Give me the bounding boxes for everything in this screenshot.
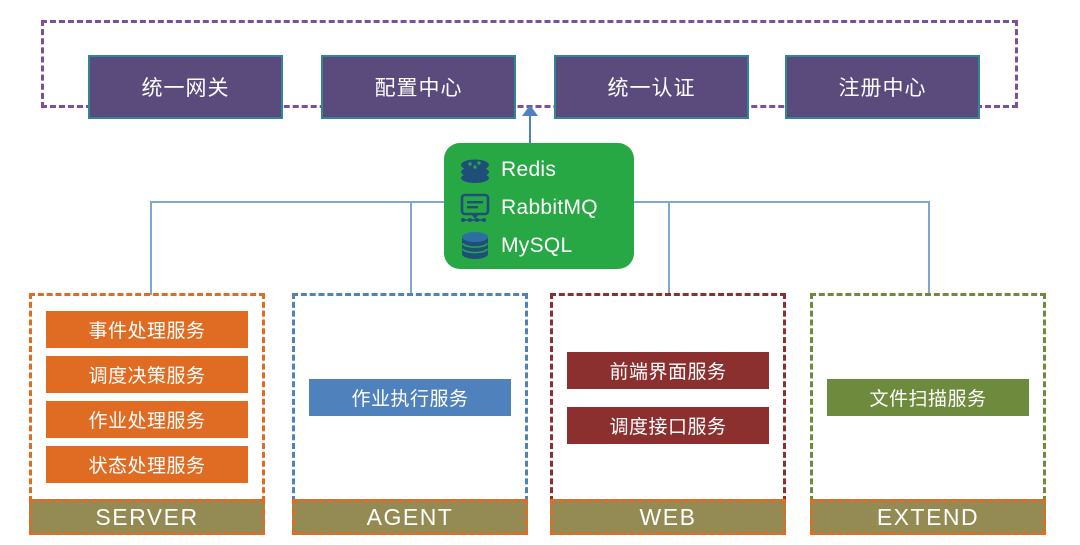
- gateway-box-registry-center[interactable]: 注册中心: [785, 55, 980, 119]
- section-footer-label: WEB: [640, 504, 697, 531]
- gateway-box-config-center[interactable]: 配置中心: [321, 55, 516, 119]
- section-agent: 作业执行服务 AGENT: [292, 293, 528, 535]
- middleware-card[interactable]: Redis RabbitMQ: [444, 143, 634, 269]
- connector-drop-agent: [410, 201, 412, 295]
- gateway-box-label: 统一认证: [608, 72, 696, 102]
- section-footer-server: SERVER: [29, 499, 265, 535]
- redis-layers-icon: [458, 155, 492, 185]
- service-label: 前端界面服务: [609, 357, 726, 384]
- service-label: 文件扫描服务: [869, 384, 986, 411]
- service-box-frontend-ui[interactable]: 前端界面服务: [567, 352, 769, 389]
- gateway-box-label: 注册中心: [839, 72, 927, 102]
- section-extend: 文件扫描服务 EXTEND: [810, 293, 1046, 535]
- middleware-row-redis[interactable]: Redis: [458, 151, 634, 189]
- section-footer-extend: EXTEND: [810, 499, 1046, 535]
- service-box-scheduling-decision[interactable]: 调度决策服务: [46, 356, 248, 393]
- middleware-label: MySQL: [501, 234, 573, 258]
- service-label: 调度决策服务: [88, 361, 205, 388]
- section-footer-label: SERVER: [95, 504, 198, 531]
- middleware-to-platform-arrow-head: [522, 105, 538, 116]
- gateway-box-unified-gateway[interactable]: 统一网关: [88, 55, 283, 119]
- connector-drop-web: [668, 201, 670, 295]
- section-server: 事件处理服务 调度决策服务 作业处理服务 状态处理服务 SERVER: [29, 293, 265, 535]
- architecture-diagram: 统一网关 配置中心 统一认证 注册中心: [0, 0, 1080, 545]
- gateway-box-unified-auth[interactable]: 统一认证: [554, 55, 749, 119]
- platform-services-band: 统一网关 配置中心 统一认证 注册中心: [41, 20, 1018, 108]
- gateway-box-label: 配置中心: [375, 72, 463, 102]
- connector-bus-horizontal-right: [633, 201, 929, 203]
- middleware-to-platform-arrow-shaft: [529, 113, 531, 143]
- middleware-row-rabbitmq[interactable]: RabbitMQ: [458, 189, 634, 227]
- connector-drop-extend: [928, 201, 930, 295]
- section-footer-agent: AGENT: [292, 499, 528, 535]
- middleware-label: RabbitMQ: [501, 196, 598, 220]
- middleware-row-mysql[interactable]: MySQL: [458, 227, 634, 265]
- gateway-box-label: 统一网关: [142, 72, 230, 102]
- section-footer-label: AGENT: [367, 504, 454, 531]
- service-box-scheduling-api[interactable]: 调度接口服务: [567, 407, 769, 444]
- connector-bus-horizontal-left: [150, 201, 445, 203]
- section-web: 前端界面服务 调度接口服务 WEB: [550, 293, 786, 535]
- rabbitmq-message-icon: [458, 193, 492, 223]
- service-box-file-scan[interactable]: 文件扫描服务: [827, 379, 1029, 416]
- service-box-event-processing[interactable]: 事件处理服务: [46, 311, 248, 348]
- middleware-label: Redis: [501, 158, 556, 182]
- service-box-job-execution[interactable]: 作业执行服务: [309, 379, 511, 416]
- connector-drop-server: [150, 201, 152, 295]
- section-footer-web: WEB: [550, 499, 786, 535]
- service-box-job-processing[interactable]: 作业处理服务: [46, 401, 248, 438]
- service-label: 事件处理服务: [88, 316, 205, 343]
- service-box-status-processing[interactable]: 状态处理服务: [46, 446, 248, 483]
- service-label: 作业执行服务: [351, 384, 468, 411]
- service-label: 调度接口服务: [609, 412, 726, 439]
- service-label: 状态处理服务: [88, 451, 205, 478]
- section-footer-label: EXTEND: [877, 504, 979, 531]
- service-label: 作业处理服务: [88, 406, 205, 433]
- mysql-database-icon: [458, 231, 492, 261]
